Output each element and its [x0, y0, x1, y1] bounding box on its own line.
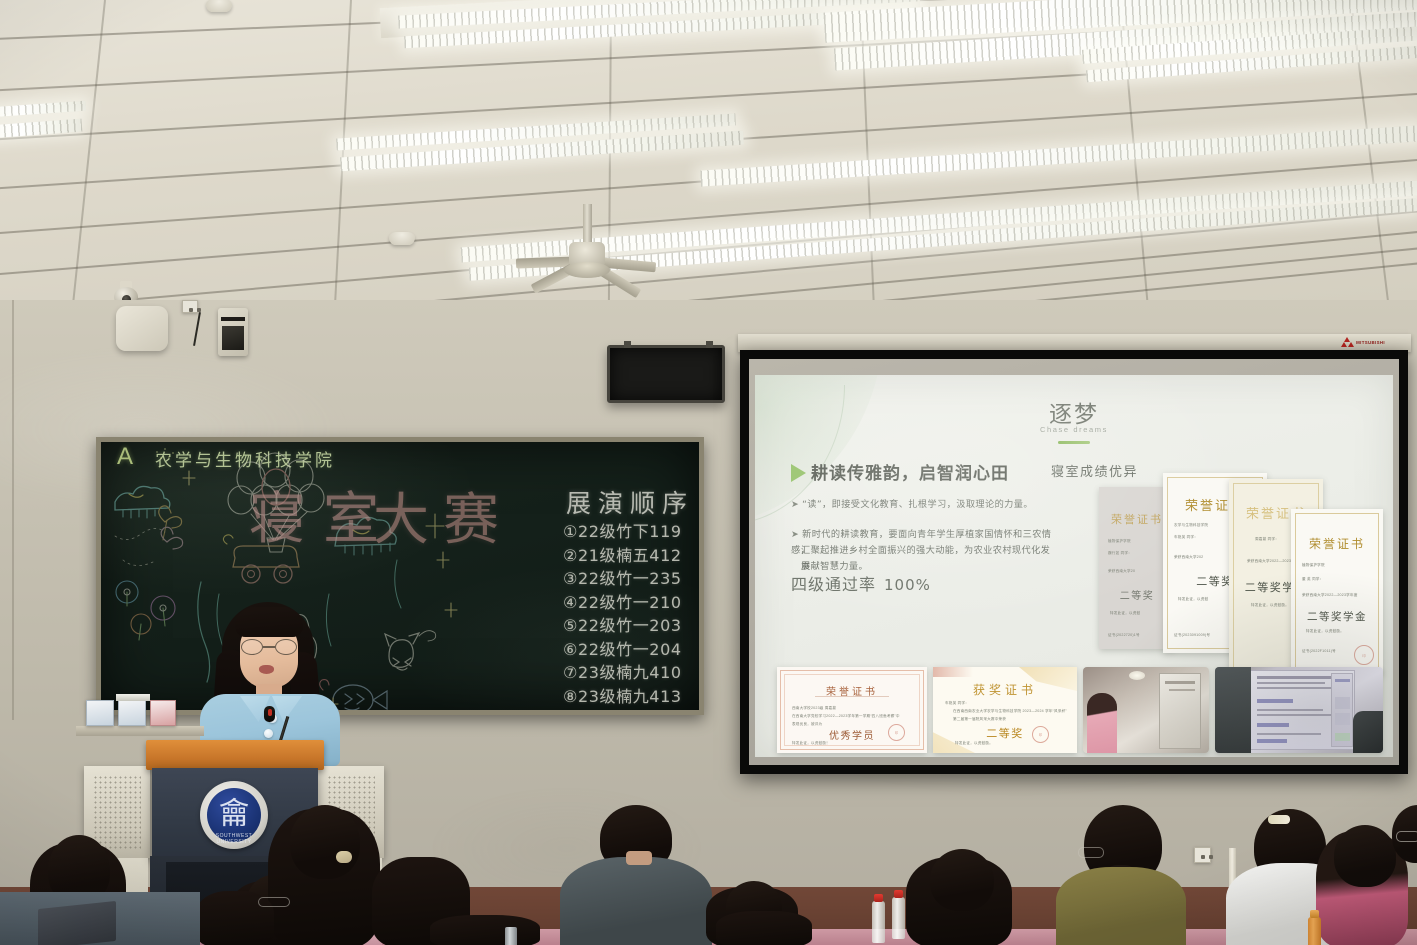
hair-clip — [1268, 815, 1290, 824]
ceiling — [0, 0, 1417, 345]
laptop[interactable] — [38, 901, 116, 945]
eyeglasses-icon — [240, 639, 298, 655]
presenter-mouth — [259, 665, 274, 674]
slide-accent-rule — [1058, 441, 1090, 444]
blackboard-order-heading: 展演顺序 — [566, 484, 694, 520]
presenter-bangs — [235, 607, 303, 637]
slide-photo-poster-board — [1215, 667, 1383, 753]
wireless-access-point — [116, 306, 168, 351]
slide-subtitle: Chase dreams — [755, 425, 1393, 434]
projection-screen: MITSUBISHI 逐梦 Chase dreams 耕读传雅韵，启智润心田 ➤… — [738, 334, 1411, 780]
stat-value: 100% — [884, 576, 931, 594]
audience-person — [716, 911, 812, 945]
slide-statistic: 四级通过率100% — [791, 571, 931, 595]
college-logo-chalk: A — [117, 445, 143, 471]
chevron-right-icon: ➤ — [791, 499, 799, 510]
wall-seam — [12, 300, 14, 720]
projector-brand-label: MITSUBISHI — [1356, 340, 1385, 345]
audience-person — [430, 915, 540, 945]
certificate-award: 二等奖学金 — [1291, 609, 1383, 624]
chevron-right-icon: ➤ — [791, 529, 799, 540]
audience — [0, 805, 1417, 945]
water-bottle — [872, 901, 885, 943]
podium-desktop — [146, 740, 324, 770]
audience-person-shoulders — [1056, 867, 1186, 945]
certificate-title: 荣誉证书 — [1291, 535, 1383, 552]
certificate-seal: 印 — [1032, 726, 1049, 743]
blackboard: A 农学与生物科技学院 — [96, 437, 704, 715]
slide-content: 逐梦 Chase dreams 耕读传雅韵，启智润心田 ➤“读”，即接受文化教育… — [755, 375, 1393, 757]
blackboard-order-list: ①22级竹下119 ②21级楠五412 ③22级竹一235 ④22级竹一210 … — [563, 520, 682, 708]
certificate-doc-no: 证书(2022F1011)号 — [1302, 649, 1336, 654]
screen-border: 逐梦 Chase dreams 耕读传雅韵，启智润心田 ➤“读”，即接受文化教育… — [740, 350, 1408, 774]
audience-person — [930, 849, 994, 911]
certificate-doc-no: 证书(2023091009)号 — [1174, 633, 1210, 638]
audience-person — [290, 805, 360, 879]
slide-title: 逐梦 — [755, 395, 1393, 429]
certificate-seal: 印 — [1354, 645, 1374, 665]
desk-tray — [116, 694, 150, 701]
audience-person-neck — [626, 851, 652, 865]
certificate-card: 获奖证书 车艳英 同学： 在西南西南农业大学农学与生物科技学院 2023—202… — [933, 667, 1077, 753]
slide-photo-student-poster — [1083, 667, 1209, 753]
card-reader-panel[interactable] — [218, 308, 248, 356]
certificate-title: 获奖证书 — [933, 681, 1077, 698]
eyeglasses-icon — [1396, 831, 1417, 842]
smoke-detector-icon — [206, 0, 232, 12]
certificate-doc-no: 特发此证，以资鼓励。 — [955, 741, 993, 746]
blackboard-header: 农学与生物科技学院 — [155, 446, 335, 471]
stat-label: 四级通过率 — [791, 575, 876, 594]
wall-monitor[interactable] — [607, 345, 725, 403]
arrow-bullet-icon — [791, 464, 806, 482]
certificate-award: 二等奖 — [933, 725, 1077, 741]
desk-box — [86, 700, 114, 726]
certificate-seal: 印 — [888, 724, 905, 741]
screen-canvas: 逐梦 Chase dreams 耕读传雅韵，启智润心田 ➤“读”，即接受文化教育… — [749, 359, 1399, 765]
eyeglasses-icon — [258, 897, 290, 907]
smoke-detector-icon — [389, 232, 415, 245]
certificate-doc-no: 特发此证，以资鼓励！ — [792, 741, 830, 746]
slide-heading: 耕读传雅韵，启智润心田 — [811, 459, 1009, 484]
certificate-card: 荣誉证书 西南大学校2023级 周嘉蔓 在西南大学党校学习2022—2023学年… — [777, 667, 927, 753]
desk-box — [118, 700, 146, 726]
ceiling-fan — [512, 204, 662, 274]
wall-outlet[interactable] — [182, 300, 198, 313]
audience-person-shoulders — [560, 857, 712, 945]
certificate-doc-no: 证书(2022720)1号 — [1108, 633, 1140, 638]
certificate-card: 荣誉证书 植物保护学院 董 英 同学： 荣获西南大学2022—2023学年度 二… — [1291, 509, 1383, 675]
water-bottle — [892, 897, 905, 939]
hair-tie — [336, 851, 352, 863]
slide-bullet-1: ➤“读”，即接受文化教育、扎根学习，汲取理论的力量。 — [791, 497, 1041, 513]
desk-box — [150, 700, 176, 726]
classroom-photo: A 农学与生物科技学院 — [0, 0, 1417, 945]
eyeglasses-icon — [1078, 847, 1104, 858]
beverage-can — [505, 927, 517, 945]
mitsubishi-logo-icon: MITSUBISHI — [1342, 337, 1385, 347]
slide-section-label: 寝室成绩优异 — [1051, 461, 1138, 480]
desk-ledge — [76, 726, 204, 736]
microphone-indicator — [268, 709, 272, 716]
audience-person — [1334, 825, 1396, 887]
orange-drink-bottle — [1308, 917, 1321, 945]
